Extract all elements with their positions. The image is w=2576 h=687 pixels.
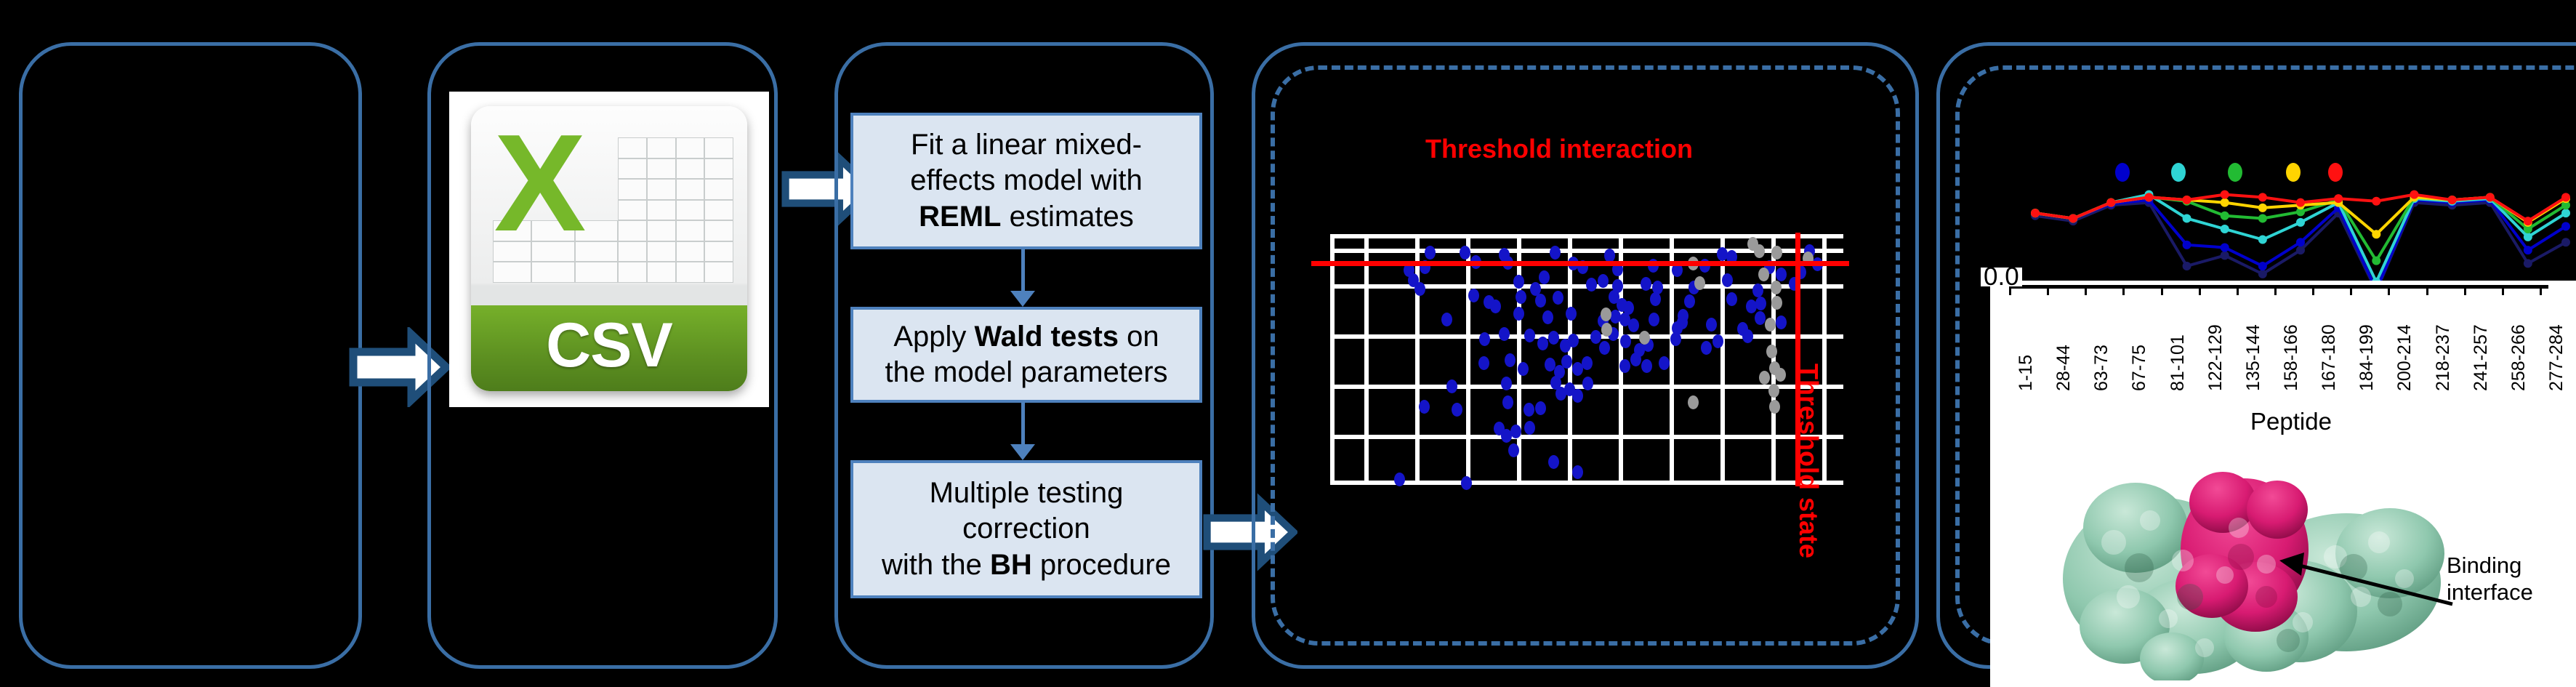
peptide-marker (2258, 262, 2267, 270)
axis-tick-label: 258-266 (2508, 324, 2529, 391)
step-wald-line1-post: on (1119, 321, 1159, 353)
csv-file-icon: X CSV (471, 106, 747, 391)
step-bh-line3-post: procedure (1032, 549, 1171, 581)
axis-tick-label: 135-144 (2243, 324, 2264, 391)
peptide-chart (1992, 145, 2576, 298)
peptide-marker (2031, 209, 2040, 217)
binding-interface-line1: Binding (2447, 553, 2521, 578)
peptide-y-tick-0: 0.0 (1981, 268, 2022, 286)
peptide-marker (2372, 230, 2380, 238)
peptide-marker (2258, 193, 2267, 201)
axis-tick-label: 218-237 (2433, 324, 2454, 391)
csv-image-card: X CSV (449, 92, 769, 407)
peptide-marker (2296, 198, 2305, 207)
peptide-series-lines (1992, 153, 2576, 298)
peptide-marker (2221, 243, 2229, 252)
peptide-marker (2221, 251, 2229, 260)
binding-interface-line2: interface (2447, 579, 2533, 605)
step-reml-line1: Fit a linear mixed- (911, 129, 1142, 161)
csv-badge: CSV (471, 305, 747, 391)
axis-tick-label: 63-73 (2091, 345, 2112, 391)
csv-badge-label: CSV (471, 305, 747, 377)
peptide-marker (2448, 196, 2457, 204)
step-bh-box[interactable]: Multiple testing correction with the BH … (850, 460, 1202, 598)
peptide-marker (2486, 193, 2495, 201)
peptide-marker (2561, 193, 2570, 201)
protein-surface-svg (2048, 441, 2455, 680)
threshold-state-label: Threshold state (1793, 363, 1824, 558)
stage-1-panel (19, 42, 362, 669)
step-wald-line2: the model parameters (885, 356, 1167, 388)
peptide-marker (2258, 270, 2267, 278)
axis-tick-label: 1-15 (2016, 355, 2037, 391)
axis-tick-label: 122-129 (2205, 324, 2226, 391)
connector-2-arrowhead (1010, 444, 1035, 460)
peptide-marker (2296, 218, 2305, 227)
peptide-marker (2069, 214, 2077, 222)
peptide-marker (2258, 204, 2267, 212)
peptide-marker (2183, 241, 2191, 249)
axis-tick-label: 67-75 (2129, 345, 2150, 391)
axis-tick-label: 158-166 (2281, 324, 2302, 391)
pipeline-diagram: X CSV Fit a linear mixed- effects model … (0, 0, 2576, 687)
peptide-marker (2221, 198, 2229, 207)
scatter-plot-area (1330, 234, 1843, 485)
step-wald-box[interactable]: Apply Wald tests on the model parameters (850, 307, 1202, 403)
step-bh-line1: Multiple testing (930, 477, 1124, 509)
peptide-marker (2221, 212, 2229, 220)
peptide-marker (2561, 222, 2570, 230)
peptide-marker (2221, 190, 2229, 199)
step-bh-bold: BH (990, 549, 1032, 581)
peptide-marker (2410, 190, 2418, 199)
peptide-marker (2524, 217, 2532, 225)
step-reml-line3-rest: estimates (1002, 201, 1134, 233)
peptide-marker (2183, 214, 2191, 222)
step-bh-line3-pre: with the (882, 549, 990, 581)
scatter-plot: Threshold interaction (1329, 124, 1838, 589)
axis-tick-label: 167-180 (2319, 324, 2340, 391)
peptide-axis-title: Peptide (2250, 408, 2332, 435)
connector-2 (1021, 403, 1025, 446)
results-image-card: 1-1528-4463-7367-7581-101122-129135-1441… (1990, 281, 2576, 687)
step-reml-bold: REML (919, 201, 1001, 233)
excel-x-letter: X (477, 118, 604, 275)
step-reml-box[interactable]: Fit a linear mixed- effects model with R… (850, 113, 1202, 249)
axis-tick-label: 277-284 (2546, 324, 2567, 391)
peptide-marker (2106, 198, 2115, 207)
axis-tick-label: 81-101 (2168, 334, 2189, 391)
connector-1 (1021, 249, 1025, 293)
peptide-marker (2372, 257, 2380, 265)
peptide-marker (2183, 196, 2191, 204)
step-wald-bold: Wald tests (975, 321, 1119, 353)
peptide-marker (2144, 193, 2153, 201)
peptide-marker (2334, 194, 2343, 203)
peptide-marker (2524, 246, 2532, 254)
axis-tick-label: 200-214 (2394, 324, 2415, 391)
peptide-marker (2524, 259, 2532, 268)
peptide-marker (2221, 225, 2229, 233)
step-bh-line2: correction (962, 513, 1090, 545)
peptide-marker (2296, 238, 2305, 246)
protein-structure-image (2048, 441, 2455, 680)
peptide-marker (2524, 233, 2532, 241)
connector-1-arrowhead (1010, 291, 1035, 307)
peptide-marker (2258, 214, 2267, 222)
axis-tick-label: 241-257 (2471, 324, 2492, 391)
step-wald-line1-pre: Apply (893, 321, 974, 353)
axis-tick-label: 184-199 (2356, 324, 2378, 391)
peptide-marker (2258, 236, 2267, 244)
peptide-marker (2183, 262, 2191, 270)
step-reml-line2: effects model with (910, 164, 1142, 196)
peptide-marker (2372, 197, 2380, 206)
peptide-marker (2561, 209, 2570, 217)
binding-interface-annotation: Binding interface (2447, 553, 2533, 606)
threshold-interaction-label: Threshold interaction (1425, 134, 1693, 164)
peptide-marker (2561, 238, 2570, 246)
peptide-axis-tick-labels: 1-1528-4463-7367-7581-101122-129135-1441… (1990, 281, 2576, 411)
peptide-marker (2296, 246, 2305, 254)
threshold-interaction-line (1311, 261, 1849, 266)
axis-tick-label: 28-44 (2053, 345, 2074, 391)
